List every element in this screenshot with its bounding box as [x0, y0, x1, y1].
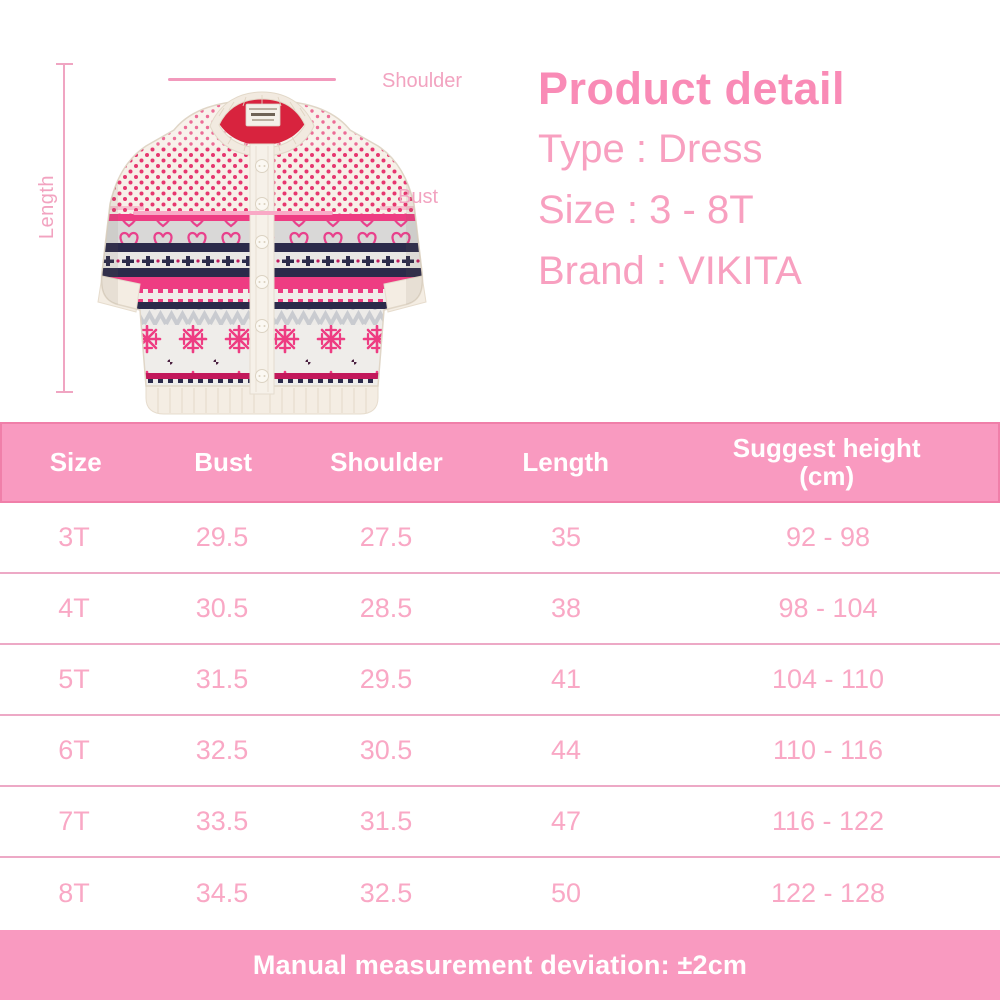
measurement-deviation-text: Manual measurement deviation: ±2cm [253, 950, 747, 981]
column-header-length: Length [476, 449, 655, 476]
product-detail-title: Product detail [538, 66, 988, 111]
cell-length: 50 [476, 878, 656, 909]
cell-suggest-height: 110 - 116 [656, 735, 1000, 766]
cell-suggest-height: 98 - 104 [656, 593, 1000, 624]
cell-bust: 31.5 [148, 664, 296, 695]
cell-suggest-height: 104 - 110 [656, 664, 1000, 695]
cell-shoulder: 28.5 [296, 593, 476, 624]
column-header-shoulder: Shoulder [297, 449, 476, 476]
length-measure-bracket [63, 63, 65, 393]
garment-image [78, 86, 446, 416]
column-header-suggest-height-line2: (cm) [799, 461, 854, 491]
column-header-bust: Bust [149, 449, 296, 476]
cell-suggest-height: 92 - 98 [656, 522, 1000, 553]
shoulder-measure-line [168, 78, 336, 81]
table-header-row: Size Bust Shoulder Length Suggest height… [0, 422, 1000, 503]
neck-tag [246, 104, 280, 126]
cell-shoulder: 27.5 [296, 522, 476, 553]
cell-size: 4T [0, 593, 148, 624]
cell-suggest-height: 116 - 122 [656, 806, 1000, 837]
table-row: 5T 31.5 29.5 41 104 - 110 [0, 645, 1000, 716]
table-row: 7T 33.5 31.5 47 116 - 122 [0, 787, 1000, 858]
column-header-size: Size [2, 449, 149, 476]
cell-length: 41 [476, 664, 656, 695]
product-hero-section: Length [0, 0, 1000, 422]
table-row: 6T 32.5 30.5 44 110 - 116 [0, 716, 1000, 787]
column-header-suggest-height-line1: Suggest height [733, 433, 921, 463]
shoulder-measure-label: Shoulder [382, 70, 462, 93]
cell-size: 8T [0, 878, 148, 909]
cell-size: 7T [0, 806, 148, 837]
cell-size: 5T [0, 664, 148, 695]
cell-shoulder: 32.5 [296, 878, 476, 909]
cell-shoulder: 30.5 [296, 735, 476, 766]
cell-length: 35 [476, 522, 656, 553]
column-header-suggest-height: Suggest height (cm) [655, 435, 998, 490]
cell-size: 6T [0, 735, 148, 766]
product-detail-size: Size : 3 - 8T [538, 190, 988, 230]
bust-measure-label: Bust [398, 186, 438, 209]
cell-bust: 30.5 [148, 593, 296, 624]
cell-size: 3T [0, 522, 148, 553]
size-chart-table: Size Bust Shoulder Length Suggest height… [0, 422, 1000, 929]
table-row: 4T 30.5 28.5 38 98 - 104 [0, 574, 1000, 645]
product-detail-type: Type : Dress [538, 129, 988, 169]
cell-bust: 33.5 [148, 806, 296, 837]
cell-length: 44 [476, 735, 656, 766]
cell-shoulder: 31.5 [296, 806, 476, 837]
table-row: 3T 29.5 27.5 35 92 - 98 [0, 503, 1000, 574]
cell-bust: 32.5 [148, 735, 296, 766]
product-detail-brand: Brand : VIKITA [538, 251, 988, 291]
bust-measure-line [133, 211, 333, 215]
table-row: 8T 34.5 32.5 50 122 - 128 [0, 858, 1000, 929]
cell-length: 38 [476, 593, 656, 624]
length-measure-label: Length [36, 175, 59, 239]
cell-length: 47 [476, 806, 656, 837]
cell-shoulder: 29.5 [296, 664, 476, 695]
measurement-deviation-bar: Manual measurement deviation: ±2cm [0, 930, 1000, 1000]
cell-bust: 34.5 [148, 878, 296, 909]
cell-bust: 29.5 [148, 522, 296, 553]
cell-suggest-height: 122 - 128 [656, 878, 1000, 909]
product-detail-block: Product detail Type : Dress Size : 3 - 8… [538, 66, 988, 312]
